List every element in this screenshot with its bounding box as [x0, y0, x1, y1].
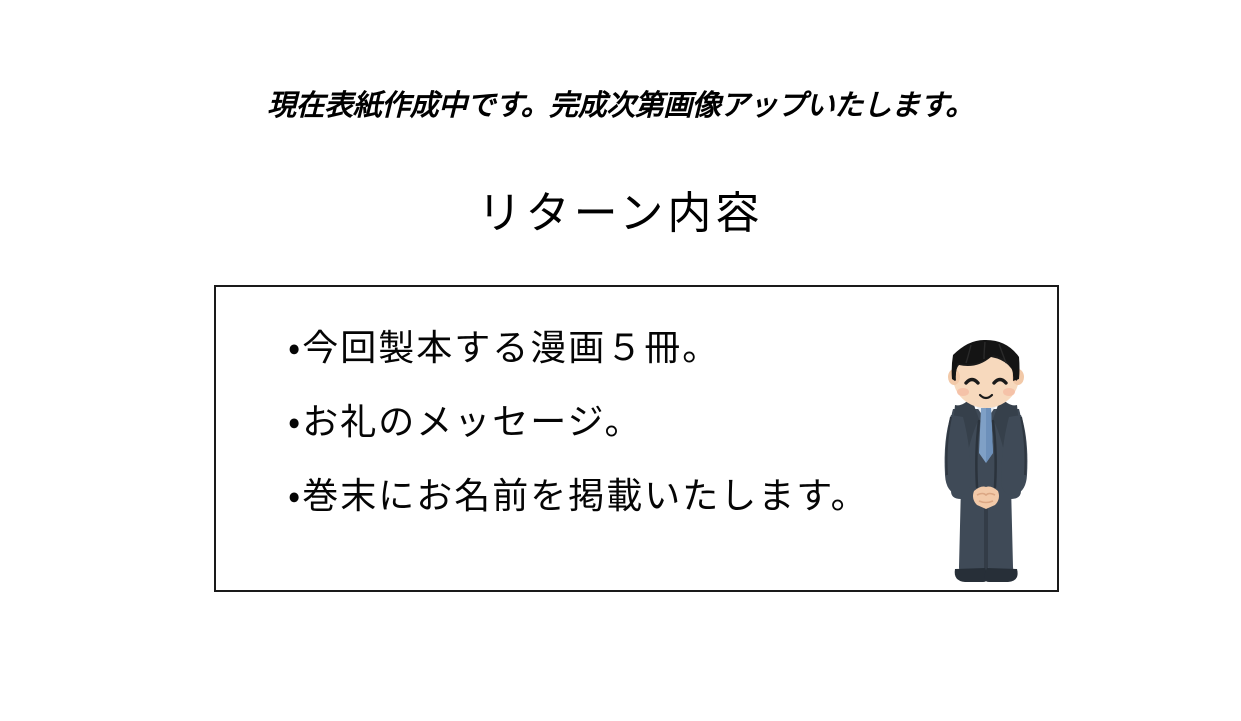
return-content-box: ・今回製本する漫画５冊。 ・お礼のメッセージ。 ・巻末にお名前を掲載いたします。: [214, 285, 1059, 592]
bowing-businessman-icon: [921, 335, 1051, 592]
page-title: リターン内容: [0, 186, 1241, 242]
list-item: ・今回製本する漫画５冊。: [288, 311, 869, 385]
list-item: ・巻末にお名前を掲載いたします。: [288, 459, 869, 533]
return-item-list: ・今回製本する漫画５冊。 ・お礼のメッセージ。 ・巻末にお名前を掲載いたします。: [288, 311, 869, 533]
list-item: ・お礼のメッセージ。: [288, 385, 869, 459]
cover-in-progress-notice: 現在表紙作成中です。完成次第画像アップいたします。: [0, 86, 1241, 124]
